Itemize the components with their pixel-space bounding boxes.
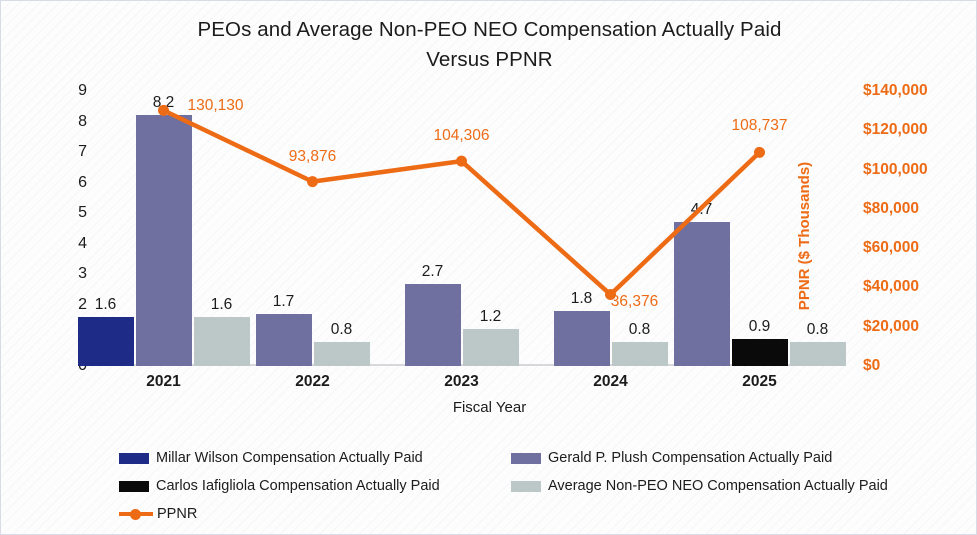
ppnr-value-label: 93,876	[289, 148, 336, 166]
left-axis-tick: 5	[45, 204, 87, 222]
left-axis-tick: 3	[45, 265, 87, 283]
ppnr-data-point[interactable]	[754, 147, 765, 158]
legend-item[interactable]: Millar Wilson Compensation Actually Paid	[119, 444, 423, 472]
legend-color-swatch-icon	[511, 481, 541, 492]
legend-label: Millar Wilson Compensation Actually Paid	[156, 450, 423, 466]
left-axis-tick: 2	[45, 296, 87, 314]
chart-title: PEOs and Average Non-PEO NEO Compensatio…	[1, 15, 977, 75]
ppnr-value-label: 104,306	[433, 127, 489, 145]
legend-line-marker-icon	[119, 508, 153, 520]
ppnr-data-point[interactable]	[307, 176, 318, 187]
legend-label: Average Non-PEO NEO Compensation Actuall…	[548, 478, 888, 494]
left-axis-tick: 4	[45, 235, 87, 253]
left-axis-tick: 9	[45, 82, 87, 100]
right-axis-tick: $0	[863, 357, 947, 375]
legend-color-swatch-icon	[119, 481, 149, 492]
right-axis-tick: $60,000	[863, 239, 947, 257]
ppnr-value-label: 108,737	[731, 117, 787, 135]
legend-row: PPNR	[119, 500, 899, 528]
right-axis-tick: $140,000	[863, 82, 947, 100]
x-axis-tick-2021: 2021	[146, 373, 180, 391]
ppnr-data-point[interactable]	[158, 105, 169, 116]
chart-legend: Millar Wilson Compensation Actually Paid…	[119, 444, 899, 528]
right-axis-tick: $80,000	[863, 200, 947, 218]
left-axis-tick: 7	[45, 143, 87, 161]
plot-area: 1.68.21.61.70.82.71.21.80.84.70.90.8 130…	[89, 91, 834, 366]
legend-item[interactable]: PPNR	[119, 500, 197, 528]
legend-color-swatch-icon	[119, 453, 149, 464]
legend-label: PPNR	[157, 506, 197, 522]
legend-item[interactable]: Carlos Iafigliola Compensation Actually …	[119, 472, 440, 500]
x-axis-tick-2023: 2023	[444, 373, 478, 391]
legend-color-swatch-icon	[511, 453, 541, 464]
right-axis-tick: $20,000	[863, 318, 947, 336]
legend-row: Millar Wilson Compensation Actually Paid…	[119, 444, 899, 472]
x-axis-title: Fiscal Year	[1, 399, 977, 416]
x-axis-tick-2024: 2024	[593, 373, 627, 391]
right-axis-tick: $100,000	[863, 161, 947, 179]
x-axis-tick-2025: 2025	[742, 373, 776, 391]
legend-label: Carlos Iafigliola Compensation Actually …	[156, 478, 440, 494]
x-axis-tick-2022: 2022	[295, 373, 329, 391]
legend-item[interactable]: Gerald P. Plush Compensation Actually Pa…	[511, 444, 832, 472]
chart-container: PEOs and Average Non-PEO NEO Compensatio…	[0, 0, 977, 535]
legend-label: Gerald P. Plush Compensation Actually Pa…	[548, 450, 832, 466]
ppnr-data-point[interactable]	[456, 156, 467, 167]
ppnr-value-label: 36,376	[611, 293, 658, 311]
right-axis-tick: $120,000	[863, 121, 947, 139]
left-axis-tick: 8	[45, 113, 87, 131]
right-axis-tick: $40,000	[863, 278, 947, 296]
left-axis-tick: 6	[45, 174, 87, 192]
legend-item[interactable]: Average Non-PEO NEO Compensation Actuall…	[511, 472, 888, 500]
legend-row: Carlos Iafigliola Compensation Actually …	[119, 472, 899, 500]
ppnr-value-label: 130,130	[187, 97, 243, 115]
right-axis: $0$20,000$40,000$60,000$80,000$100,000$1…	[863, 83, 947, 374]
